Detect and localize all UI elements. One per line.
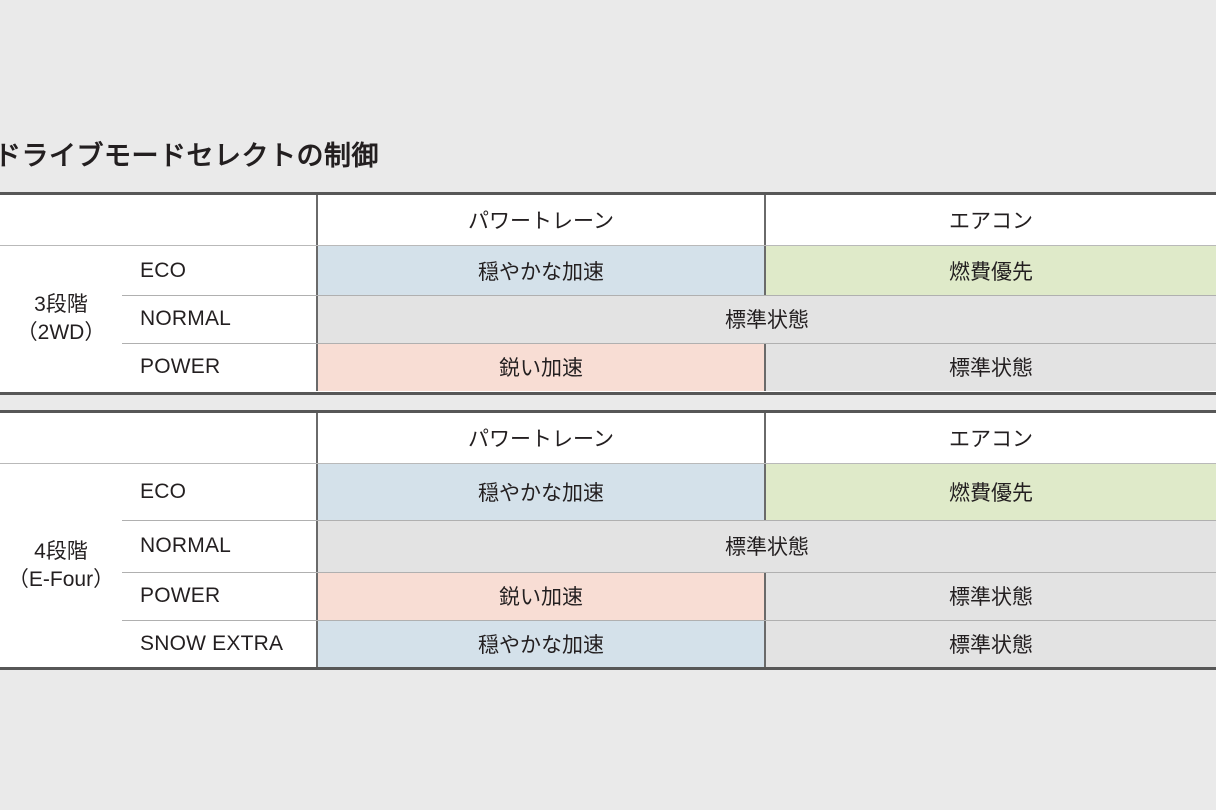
cell-aircon-power: 標準状態 (766, 572, 1216, 620)
cell-powertrain-power: 鋭い加速 (318, 343, 766, 391)
table-row: ECO 穏やかな加速 燃費優先 (122, 246, 1216, 295)
table-row: NORMAL 標準状態 (122, 295, 1216, 343)
header-corner-cell (0, 413, 318, 463)
drive-mode-table-3step: パワートレーン エアコン 3段階 （2WD） ECO 穏やかな加速 燃費優先 N… (0, 192, 1216, 395)
mode-label-snow-extra: SNOW EXTRA (122, 620, 318, 667)
header-aircon: エアコン (766, 195, 1216, 245)
row-divider (122, 572, 1216, 573)
cell-powertrain-power: 鋭い加速 (318, 572, 766, 620)
drive-mode-table-4step: パワートレーン エアコン 4段階 （E-Four） ECO 穏やかな加速 燃費優… (0, 410, 1216, 670)
table-row: POWER 鋭い加速 標準状態 (122, 572, 1216, 620)
header-powertrain: パワートレーン (318, 195, 766, 245)
header-corner-cell (0, 195, 318, 245)
cell-powertrain-eco: 穏やかな加速 (318, 246, 766, 295)
group-label-line2: （2WD） (17, 319, 106, 347)
cell-powertrain-snow-extra: 穏やかな加速 (318, 620, 766, 667)
cell-aircon-power: 標準状態 (766, 343, 1216, 391)
table-body-4step: 4段階 （E-Four） ECO 穏やかな加速 燃費優先 NORMAL 標準状態… (0, 464, 1216, 667)
group-label-3step: 3段階 （2WD） (0, 246, 122, 392)
row-divider (122, 620, 1216, 621)
group-label-line2: （E-Four） (8, 566, 114, 594)
mode-label-power: POWER (122, 343, 318, 391)
mode-label-eco: ECO (122, 246, 318, 295)
table-body-3step: 3段階 （2WD） ECO 穏やかな加速 燃費優先 NORMAL 標準状態 PO… (0, 246, 1216, 392)
mode-label-normal: NORMAL (122, 295, 318, 343)
table-row: NORMAL 標準状態 (122, 520, 1216, 572)
table-header-row: パワートレーン エアコン (0, 195, 1216, 245)
group-label-line1: 3段階 (34, 291, 88, 319)
table-header-row: パワートレーン エアコン (0, 413, 1216, 463)
cell-aircon-eco: 燃費優先 (766, 246, 1216, 295)
cell-merged-normal: 標準状態 (318, 520, 1216, 572)
cell-powertrain-eco: 穏やかな加速 (318, 464, 766, 520)
table-row: POWER 鋭い加速 標準状態 (122, 343, 1216, 391)
row-divider (122, 343, 1216, 344)
mode-label-eco: ECO (122, 464, 318, 520)
page-title: ドライブモードセレクトの制御 (0, 134, 379, 173)
cell-aircon-snow-extra: 標準状態 (766, 620, 1216, 667)
table-row: ECO 穏やかな加速 燃費優先 (122, 464, 1216, 520)
header-powertrain: パワートレーン (318, 413, 766, 463)
mode-label-normal: NORMAL (122, 520, 318, 572)
row-divider (122, 295, 1216, 296)
row-divider (122, 520, 1216, 521)
group-label-4step: 4段階 （E-Four） (0, 464, 122, 667)
table-row: SNOW EXTRA 穏やかな加速 標準状態 (122, 620, 1216, 667)
header-aircon: エアコン (766, 413, 1216, 463)
cell-aircon-eco: 燃費優先 (766, 464, 1216, 520)
group-label-line1: 4段階 (34, 538, 88, 566)
mode-label-power: POWER (122, 572, 318, 620)
cell-merged-normal: 標準状態 (318, 295, 1216, 343)
